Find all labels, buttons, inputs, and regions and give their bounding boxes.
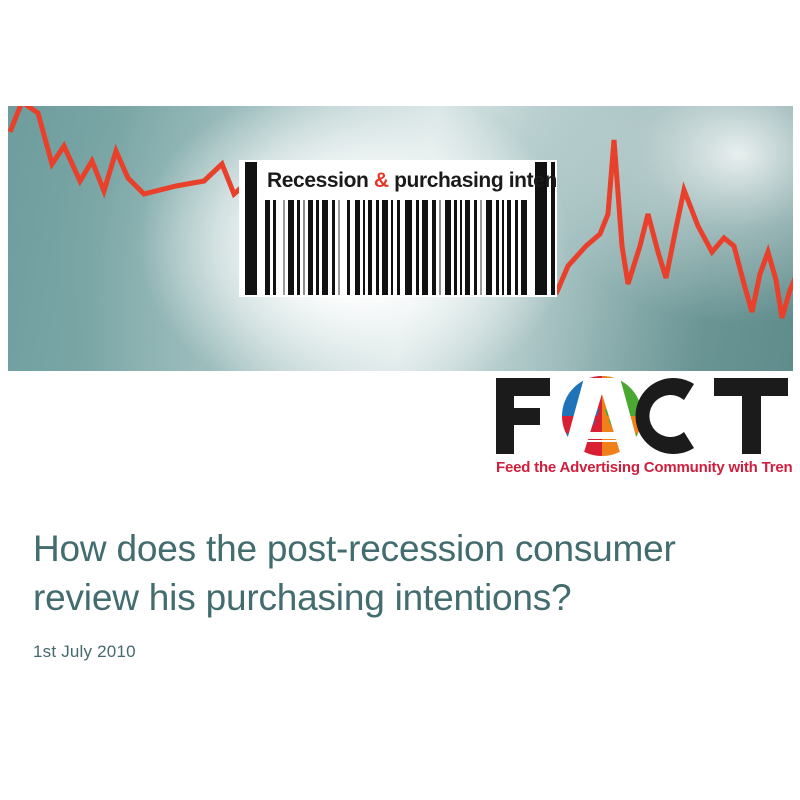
logo-letter-c [636,378,694,454]
page-title: How does the post-recession consumer rev… [33,524,753,622]
barcode-label-part-2: purchasing intention [389,169,557,192]
logo-letter-f [496,378,550,454]
barcode-label-ampersand: & [374,169,389,192]
title-slide: Recession & purchasing intention [0,0,800,800]
barcode-graphic: Recession & purchasing intention [239,160,557,297]
logo-tagline: Feed the Advertising Community with Tren… [496,459,792,476]
barcode-label: Recession & purchasing intention [267,169,557,192]
barcode-label-part-1: Recession [267,169,374,192]
logo-letter-t [714,378,788,454]
hero-banner: Recession & purchasing intention [8,106,793,371]
slide-date: 1st July 2010 [33,642,753,662]
logo-emblem-a [561,376,643,462]
title-block: How does the post-recession consumer rev… [33,524,753,662]
fact-logo: Feed the Advertising Community with Tren… [492,372,792,477]
